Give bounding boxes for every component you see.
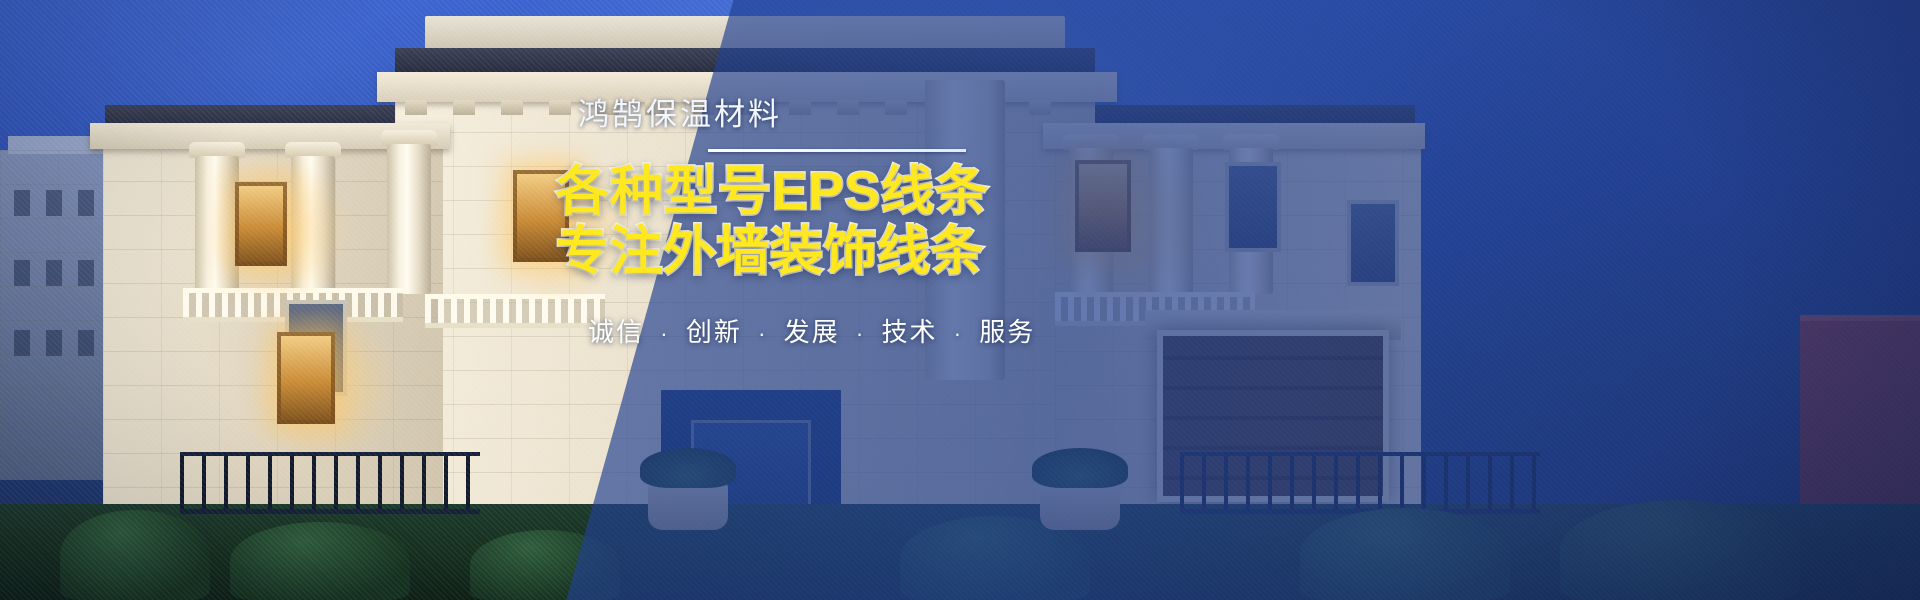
banner-text-block: 鸿鹄保温材料 各种型号EPS线条 专注外墙装饰线条 诚信 · 创新 · 发展 ·… — [556, 96, 1026, 349]
headline-line-1: 各种型号EPS线条 — [556, 162, 1026, 222]
tagline-item-3: 发展 — [784, 317, 840, 347]
tagline-separator-4: · — [947, 321, 970, 346]
tagline-separator-3: · — [849, 321, 872, 346]
headline-line-2: 专注外墙装饰线条 — [556, 222, 1026, 282]
tagline-item-5: 服务 — [979, 317, 1035, 347]
hero-banner: 鸿鹄保温材料 各种型号EPS线条 专注外墙装饰线条 诚信 · 创新 · 发展 ·… — [0, 0, 1920, 600]
tagline-separator-2: · — [751, 321, 774, 346]
tagline-separator-1: · — [653, 321, 676, 346]
tagline: 诚信 · 创新 · 发展 · 技术 · 服务 — [588, 312, 1026, 349]
red-building — [1800, 315, 1920, 535]
tagline-item-1: 诚信 — [588, 317, 644, 347]
brand-name: 鸿鹄保温材料 — [578, 96, 1026, 135]
divider-rule — [708, 149, 966, 152]
tagline-item-2: 创新 — [686, 317, 742, 347]
tagline-item-4: 技术 — [881, 317, 937, 347]
